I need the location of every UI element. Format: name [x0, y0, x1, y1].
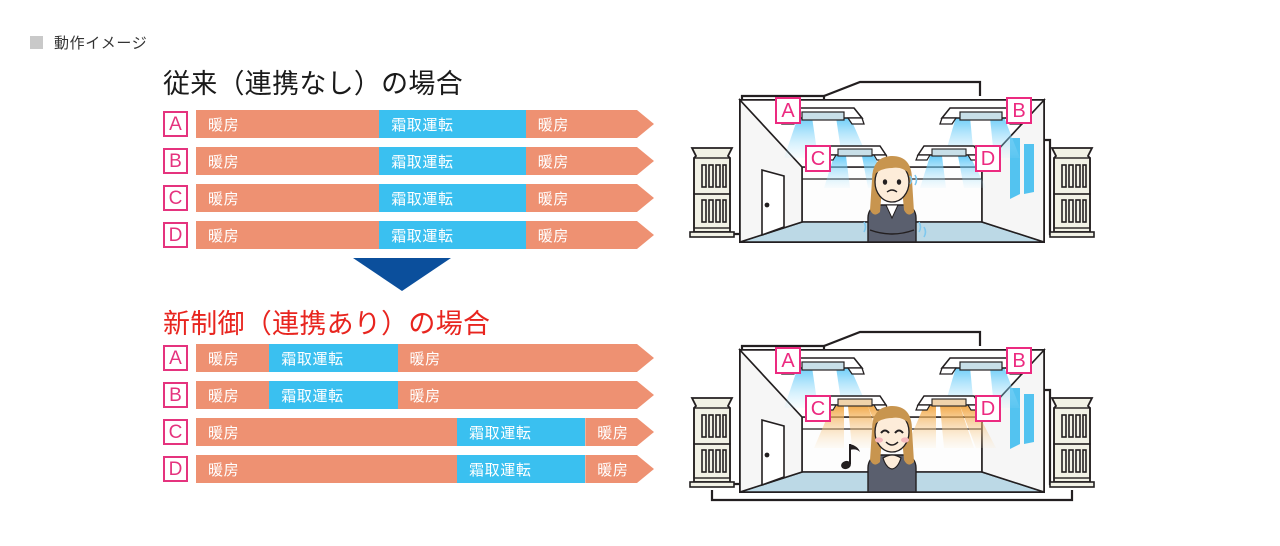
segment-defrost: 霜取運転 — [269, 381, 397, 409]
room-badge-c: C — [805, 145, 831, 172]
unit-badge-c: C — [163, 419, 188, 445]
down-arrow-icon — [353, 258, 451, 291]
segment-heating: 暖房 — [526, 184, 654, 212]
segment-heating: 暖房 — [398, 344, 654, 372]
timeline-row-a: A暖房霜取運転暖房 — [163, 344, 654, 372]
segment-heating: 暖房 — [526, 147, 654, 175]
timeline-track: 暖房霜取運転暖房 — [196, 418, 654, 446]
outdoor-unit-left — [690, 148, 734, 237]
timeline-row-a: A暖房霜取運転暖房 — [163, 110, 654, 138]
unit-badge-d: D — [163, 222, 188, 248]
page-title: 動作イメージ — [54, 32, 147, 53]
room-illustration-conventional: A B C D — [672, 72, 1112, 272]
timeline-track: 暖房霜取運転暖房 — [196, 184, 654, 212]
timeline-row-b: B暖房霜取運転暖房 — [163, 381, 654, 409]
timeline-track: 暖房霜取運転暖房 — [196, 110, 654, 138]
room-badge-b: B — [1006, 97, 1032, 124]
room-svg-conventional — [672, 72, 1112, 267]
segment-heating: 暖房 — [196, 344, 269, 372]
unit-badge-c: C — [163, 185, 188, 211]
segment-defrost: 霜取運転 — [457, 418, 585, 446]
segment-defrost: 霜取運転 — [379, 110, 526, 138]
timeline-track: 暖房霜取運転暖房 — [196, 221, 654, 249]
segment-defrost: 霜取運転 — [379, 147, 526, 175]
timeline-chart-conventional: A暖房霜取運転暖房B暖房霜取運転暖房C暖房霜取運転暖房D暖房霜取運転暖房 — [163, 110, 654, 258]
section-title-new-control: 新制御（連携あり）の場合 — [163, 302, 490, 341]
timeline-chart-new-control: A暖房霜取運転暖房B暖房霜取運転暖房C暖房霜取運転暖房D暖房霜取運転暖房 — [163, 344, 654, 492]
timeline-track: 暖房霜取運転暖房 — [196, 381, 654, 409]
room-badge-d: D — [975, 395, 1001, 422]
timeline-track: 暖房霜取運転暖房 — [196, 344, 654, 372]
unit-badge-a: A — [163, 345, 188, 371]
section-title-conventional: 従来（連携なし）の場合 — [163, 62, 463, 101]
unit-badge-d: D — [163, 456, 188, 482]
outdoor-unit-left — [690, 398, 734, 487]
room-badge-a: A — [775, 97, 801, 124]
segment-defrost: 霜取運転 — [269, 344, 397, 372]
segment-defrost: 霜取運転 — [379, 221, 526, 249]
segment-heating: 暖房 — [526, 221, 654, 249]
door-icon — [762, 420, 784, 485]
segment-heating: 暖房 — [196, 221, 379, 249]
room-badge-a: A — [775, 347, 801, 374]
timeline-row-b: B暖房霜取運転暖房 — [163, 147, 654, 175]
unit-badge-b: B — [163, 382, 188, 408]
room-illustration-new-control: A B C D — [672, 322, 1112, 522]
page-header: 動作イメージ — [30, 32, 147, 53]
timeline-track: 暖房霜取運転暖房 — [196, 147, 654, 175]
segment-heating: 暖房 — [196, 110, 379, 138]
segment-heating: 暖房 — [196, 184, 379, 212]
segment-heating: 暖房 — [526, 110, 654, 138]
square-bullet-icon — [30, 36, 43, 49]
unit-badge-b: B — [163, 148, 188, 174]
room-badge-d: D — [975, 145, 1001, 172]
room-badge-b: B — [1006, 347, 1032, 374]
timeline-row-c: C暖房霜取運転暖房 — [163, 184, 654, 212]
segment-heating: 暖房 — [196, 455, 457, 483]
timeline-row-d: D暖房霜取運転暖房 — [163, 221, 654, 249]
segment-defrost: 霜取運転 — [457, 455, 585, 483]
segment-heating: 暖房 — [196, 418, 457, 446]
outdoor-unit-right — [1050, 398, 1094, 487]
unit-badge-a: A — [163, 111, 188, 137]
segment-heating: 暖房 — [585, 418, 654, 446]
timeline-track: 暖房霜取運転暖房 — [196, 455, 654, 483]
timeline-row-c: C暖房霜取運転暖房 — [163, 418, 654, 446]
segment-defrost: 霜取運転 — [379, 184, 526, 212]
person-warm — [868, 406, 916, 492]
timeline-row-d: D暖房霜取運転暖房 — [163, 455, 654, 483]
segment-heating: 暖房 — [196, 147, 379, 175]
segment-heating: 暖房 — [585, 455, 654, 483]
segment-heating: 暖房 — [196, 381, 269, 409]
room-badge-c: C — [805, 395, 831, 422]
outdoor-unit-right — [1050, 148, 1094, 237]
room-svg-new-control — [672, 322, 1112, 517]
segment-heating: 暖房 — [398, 381, 654, 409]
door-icon — [762, 170, 784, 235]
